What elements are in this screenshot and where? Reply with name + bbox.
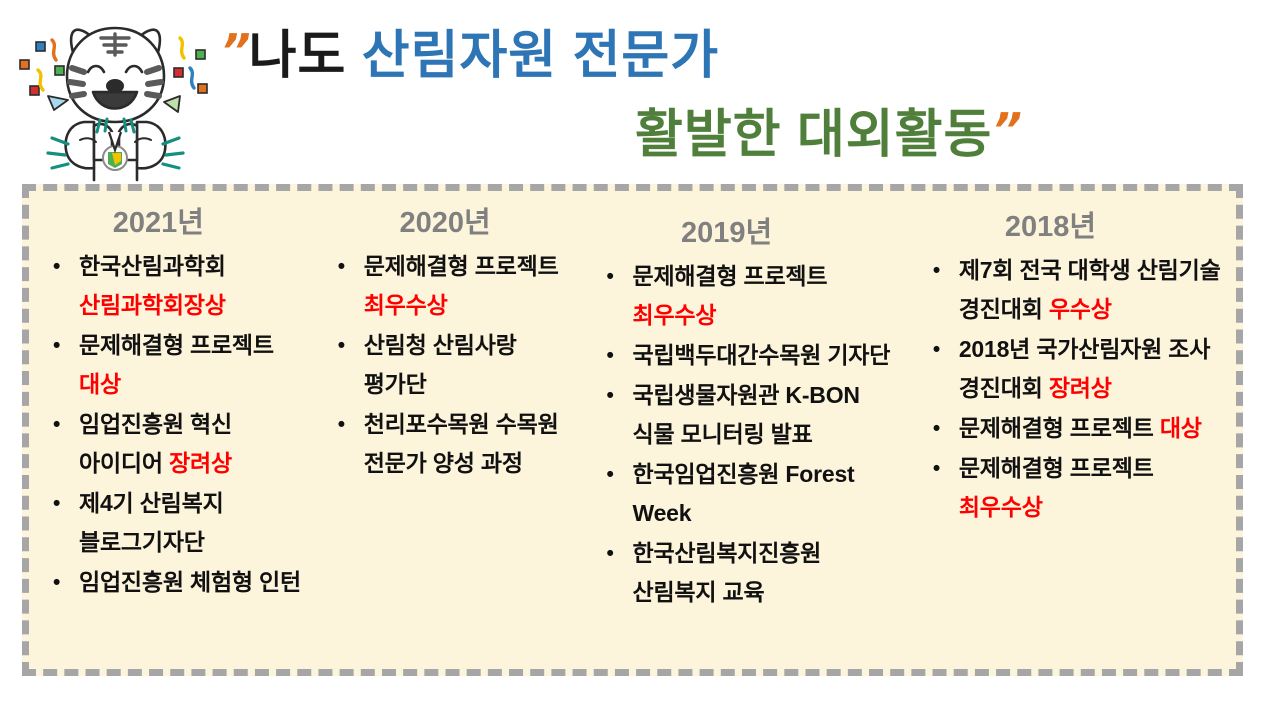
item-text: 문제해결형 프로젝트 [364, 253, 559, 279]
list-item: 임업진흥원 체험형 인턴 [51, 563, 308, 602]
activity-list: 한국산림과학회 산림과학회장상 문제해결형 프로젝트 대상 임업진흥원 혁신 아… [29, 247, 314, 602]
year-heading: 2021년 [29, 205, 314, 241]
item-text: 문제해결형 프로젝트 [959, 415, 1160, 441]
close-quote-icon: ” [992, 93, 1020, 167]
title-line-1: ”나도 산림자원 전문가 [215, 14, 1265, 93]
title-line-2: 활발한 대외활동” [215, 93, 1265, 172]
activity-list: 문제해결형 프로젝트 최우수상 국립백두대간수목원 기자단 국립생물자원관 K-… [591, 257, 909, 612]
item-text: 한국산림복지진흥원 산림복지 교육 [633, 540, 822, 605]
slide-title: ”나도 산림자원 전문가 활발한 대외활동” [215, 14, 1265, 179]
item-award: 우수상 [1049, 296, 1112, 322]
year-column-2021: 2021년 한국산림과학회 산림과학회장상 문제해결형 프로젝트 대상 임업진흥… [29, 191, 314, 669]
year-column-2018: 2018년 제7회 전국 대학생 산림기술 경진대회 우수상 2018년 국가산… [909, 191, 1236, 669]
list-item: 문제해결형 프로젝트 최우수상 [931, 449, 1230, 527]
year-column-2020: 2020년 문제해결형 프로젝트 최우수상 산림청 산림사랑 평가단 천리포수목… [314, 191, 591, 669]
item-text: 국립생물자원관 K-BON 식물 모니터링 발표 [633, 382, 860, 447]
list-item: 문제해결형 프로젝트 대상 [931, 409, 1230, 448]
item-text: 임업진흥원 체험형 인턴 [79, 569, 301, 595]
list-item: 국립백두대간수목원 기자단 [605, 336, 903, 375]
item-text: 제4기 산림복지 블로그기자단 [79, 490, 224, 555]
item-award: 장려상 [169, 450, 232, 476]
item-text: 문제해결형 프로젝트 [633, 263, 828, 289]
item-award: 산림과학회장상 [79, 292, 226, 318]
item-text: 문제해결형 프로젝트 [79, 332, 274, 358]
list-item: 문제해결형 프로젝트 최우수상 [605, 257, 903, 335]
title-highlight-blue: 산림자원 전문가 [362, 27, 719, 85]
item-award: 대상 [1160, 415, 1202, 441]
item-text: 한국산림과학회 [79, 253, 226, 279]
item-text: 문제해결형 프로젝트 [959, 455, 1154, 481]
list-item: 산림청 산림사랑 평가단 [336, 326, 585, 404]
year-heading: 2019년 [591, 215, 909, 251]
list-item: 제7회 전국 대학생 산림기술 경진대회 우수상 [931, 251, 1230, 329]
list-item: 제4기 산림복지 블로그기자단 [51, 484, 308, 562]
item-award: 대상 [79, 371, 121, 397]
list-item: 한국산림과학회 산림과학회장상 [51, 247, 308, 325]
year-columns: 2021년 한국산림과학회 산림과학회장상 문제해결형 프로젝트 대상 임업진흥… [29, 191, 1236, 669]
item-award: 장려상 [1049, 375, 1112, 401]
open-quote-icon: ” [221, 14, 249, 88]
item-award: 최우수상 [633, 302, 717, 328]
year-heading: 2020년 [314, 205, 591, 241]
year-column-2019: 2019년 문제해결형 프로젝트 최우수상 국립백두대간수목원 기자단 국립생물… [591, 191, 909, 669]
item-text: 한국임업진흥원 Forest Week [633, 461, 855, 526]
tiger-mascot-icon [8, 10, 223, 185]
activities-panel: 2021년 한국산림과학회 산림과학회장상 문제해결형 프로젝트 대상 임업진흥… [22, 184, 1243, 676]
list-item: 국립생물자원관 K-BON 식물 모니터링 발표 [605, 376, 903, 454]
item-award: 최우수상 [364, 292, 448, 318]
title-prefix: 나도 [249, 27, 362, 85]
slide-header: ”나도 산림자원 전문가 활발한 대외활동” [0, 0, 1280, 185]
list-item: 한국임업진흥원 Forest Week [605, 455, 903, 533]
item-award: 최우수상 [959, 494, 1043, 520]
year-heading: 2018년 [909, 209, 1236, 245]
list-item: 한국산림복지진흥원 산림복지 교육 [605, 534, 903, 612]
list-item: 임업진흥원 혁신 아이디어 장려상 [51, 405, 308, 483]
list-item: 2018년 국가산림자원 조사 경진대회 장려상 [931, 330, 1230, 408]
item-text: 천리포수목원 수목원 전문가 양성 과정 [364, 411, 559, 476]
list-item: 문제해결형 프로젝트 대상 [51, 326, 308, 404]
title-highlight-green: 활발한 대외활동 [635, 106, 992, 164]
item-text: 국립백두대간수목원 기자단 [633, 342, 891, 368]
list-item: 문제해결형 프로젝트 최우수상 [336, 247, 585, 325]
list-item: 천리포수목원 수목원 전문가 양성 과정 [336, 405, 585, 483]
item-text: 산림청 산림사랑 평가단 [364, 332, 517, 397]
activity-list: 제7회 전국 대학생 산림기술 경진대회 우수상 2018년 국가산림자원 조사… [909, 251, 1236, 527]
activity-list: 문제해결형 프로젝트 최우수상 산림청 산림사랑 평가단 천리포수목원 수목원 … [314, 247, 591, 483]
